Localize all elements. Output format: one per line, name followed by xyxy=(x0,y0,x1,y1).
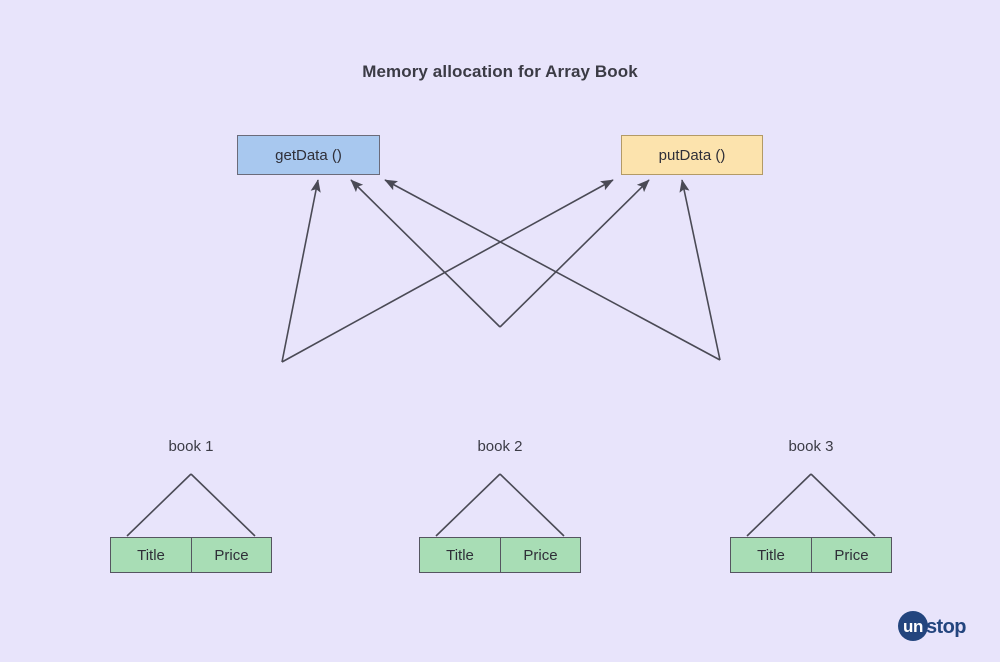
diagram-canvas: Memory allocation for Array Book getData… xyxy=(0,0,1000,662)
arrow-book3-to-getdata xyxy=(385,180,720,360)
function-label-getdata: getData () xyxy=(275,147,342,164)
book-table-2: Title Price xyxy=(419,537,581,573)
book-1-field-title: Title xyxy=(111,538,191,572)
book-group-2: book 2 Title Price xyxy=(385,438,615,578)
book-3-field-title: Title xyxy=(731,538,811,572)
book-label-3: book 3 xyxy=(696,438,926,455)
unstop-logo-mark: un xyxy=(898,611,928,641)
book-label-2: book 2 xyxy=(385,438,615,455)
function-box-getdata[interactable]: getData () xyxy=(237,135,380,175)
unstop-logo-mark-text: un xyxy=(903,618,923,635)
book-2-field-title: Title xyxy=(420,538,500,572)
arrow-book1-to-putdata xyxy=(282,180,613,362)
book-group-3: book 3 Title Price xyxy=(696,438,926,578)
arrow-book1-to-getdata xyxy=(282,180,318,362)
book-3-field-price: Price xyxy=(811,538,891,572)
function-label-putdata: putData () xyxy=(659,147,726,164)
unstop-logo-word: stop xyxy=(926,617,966,637)
arrow-book3-to-putdata xyxy=(682,180,720,360)
book-group-1: book 1 Title Price xyxy=(76,438,306,578)
book-label-1: book 1 xyxy=(76,438,306,455)
book-table-1: Title Price xyxy=(110,537,272,573)
function-box-putdata[interactable]: putData () xyxy=(621,135,763,175)
book-table-3: Title Price xyxy=(730,537,892,573)
unstop-logo: un stop xyxy=(898,609,966,643)
book-1-field-price: Price xyxy=(191,538,271,572)
book-2-field-price: Price xyxy=(500,538,580,572)
